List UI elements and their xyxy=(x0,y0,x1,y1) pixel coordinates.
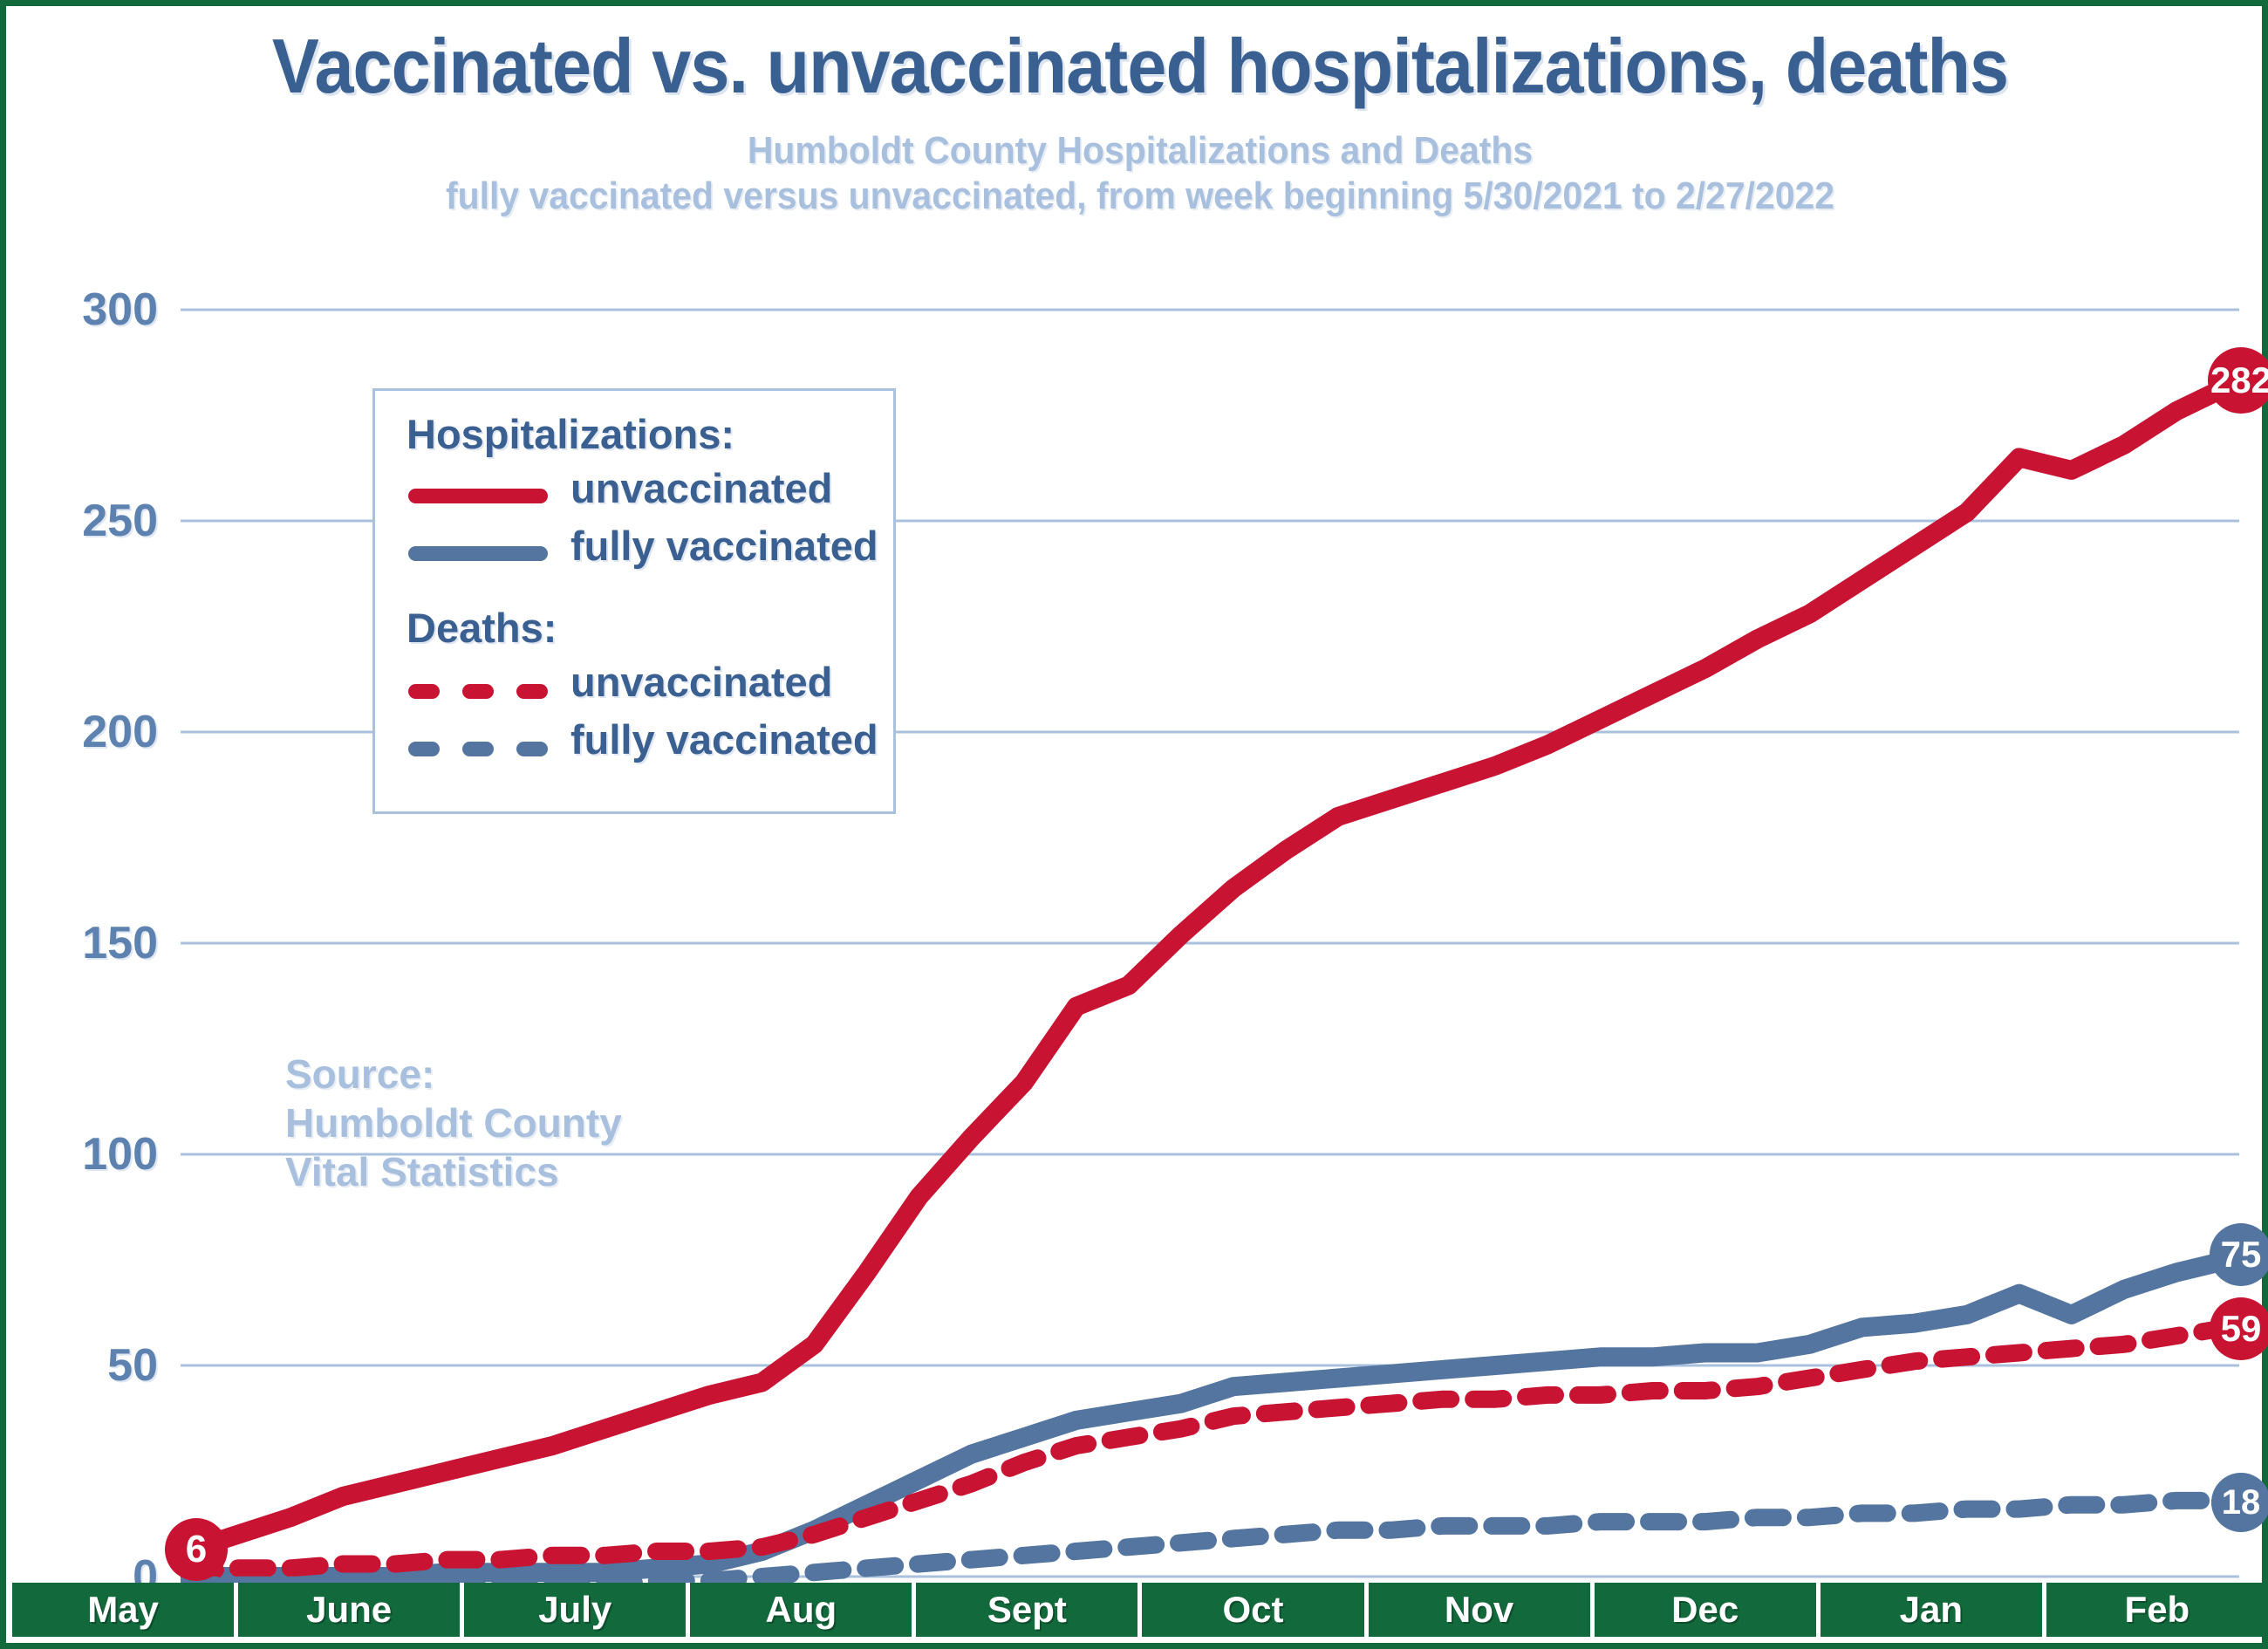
legend-swatch-deaths-unvaccinated-b xyxy=(462,684,494,699)
y-axis-tick-label: 300 xyxy=(1,284,158,336)
legend-swatch-deaths-fully-vaccinated-c xyxy=(516,742,548,756)
month-label-oct: Oct xyxy=(1142,1583,1363,1637)
source-line-2: Humboldt County xyxy=(285,1098,622,1147)
legend-swatch-deaths-fully-vaccinated-a xyxy=(408,742,440,756)
month-label-sept: Sept xyxy=(916,1583,1137,1637)
legend-label-deaths-unvaccinated: unvaccinated xyxy=(570,658,832,706)
value-badge-end-unvaccinated-deaths: 59 xyxy=(2210,1297,2268,1360)
value-badge-end-fully-vaccinated-hospitalizations: 75 xyxy=(2210,1223,2268,1286)
month-label-july: July xyxy=(464,1583,686,1637)
y-axis-tick-label: 200 xyxy=(1,706,158,758)
chart-subtitle: Humboldt County Hospitalizations and Dea… xyxy=(85,128,2195,219)
chart-legend: Hospitalizations: unvaccinated fully vac… xyxy=(372,388,896,814)
month-label-aug: Aug xyxy=(690,1583,912,1637)
legend-label-deaths-fully-vaccinated: fully vaccinated xyxy=(570,715,878,763)
y-axis-tick-label: 50 xyxy=(1,1339,158,1392)
legend-swatch-deaths-fully-vaccinated-b xyxy=(462,742,494,756)
y-axis-tick-label: 150 xyxy=(1,917,158,969)
y-axis-tick-label: 250 xyxy=(1,495,158,547)
legend-swatch-deaths-unvaccinated-a xyxy=(408,684,440,699)
legend-heading-hospitalizations: Hospitalizations: xyxy=(406,410,734,458)
legend-label-hosp-unvaccinated: unvaccinated xyxy=(570,464,832,512)
month-label-may: May xyxy=(12,1583,234,1637)
source-note: Source: Humboldt County Vital Statistics xyxy=(285,1050,622,1196)
legend-heading-deaths: Deaths: xyxy=(406,604,557,652)
value-badge-end-unvaccinated-hospitalizations: 282 xyxy=(2208,347,2268,414)
chart-title: Vaccinated vs. unvaccinated hospitalizat… xyxy=(97,27,2183,106)
value-badge-end-fully-vaccinated-deaths: 18 xyxy=(2211,1473,2268,1532)
subtitle-line-2: fully vaccinated versus unvaccinated, fr… xyxy=(85,174,2195,219)
chart-frame: Vaccinated vs. unvaccinated hospitalizat… xyxy=(0,0,2268,1649)
month-label-feb: Feb xyxy=(2046,1583,2268,1637)
month-axis: MayJuneJulyAugSeptOctNovDecJanFeb xyxy=(12,1583,2268,1637)
month-label-nov: Nov xyxy=(1369,1583,1590,1637)
source-line-1: Source: xyxy=(285,1050,622,1098)
legend-swatch-deaths-unvaccinated-c xyxy=(516,684,548,699)
subtitle-line-1: Humboldt County Hospitalizations and Dea… xyxy=(85,128,2195,174)
legend-swatch-hosp-fully-vaccinated xyxy=(408,546,548,561)
source-line-3: Vital Statistics xyxy=(285,1147,622,1196)
y-axis-tick-label: 100 xyxy=(1,1128,158,1180)
month-label-dec: Dec xyxy=(1595,1583,1816,1637)
legend-label-hosp-fully-vaccinated: fully vaccinated xyxy=(570,522,878,570)
month-label-june: June xyxy=(238,1583,460,1637)
value-badge-start-unvaccinated-hospitalizations: 6 xyxy=(165,1518,228,1581)
legend-swatch-hosp-unvaccinated xyxy=(408,489,548,503)
month-label-jan: Jan xyxy=(1821,1583,2042,1637)
